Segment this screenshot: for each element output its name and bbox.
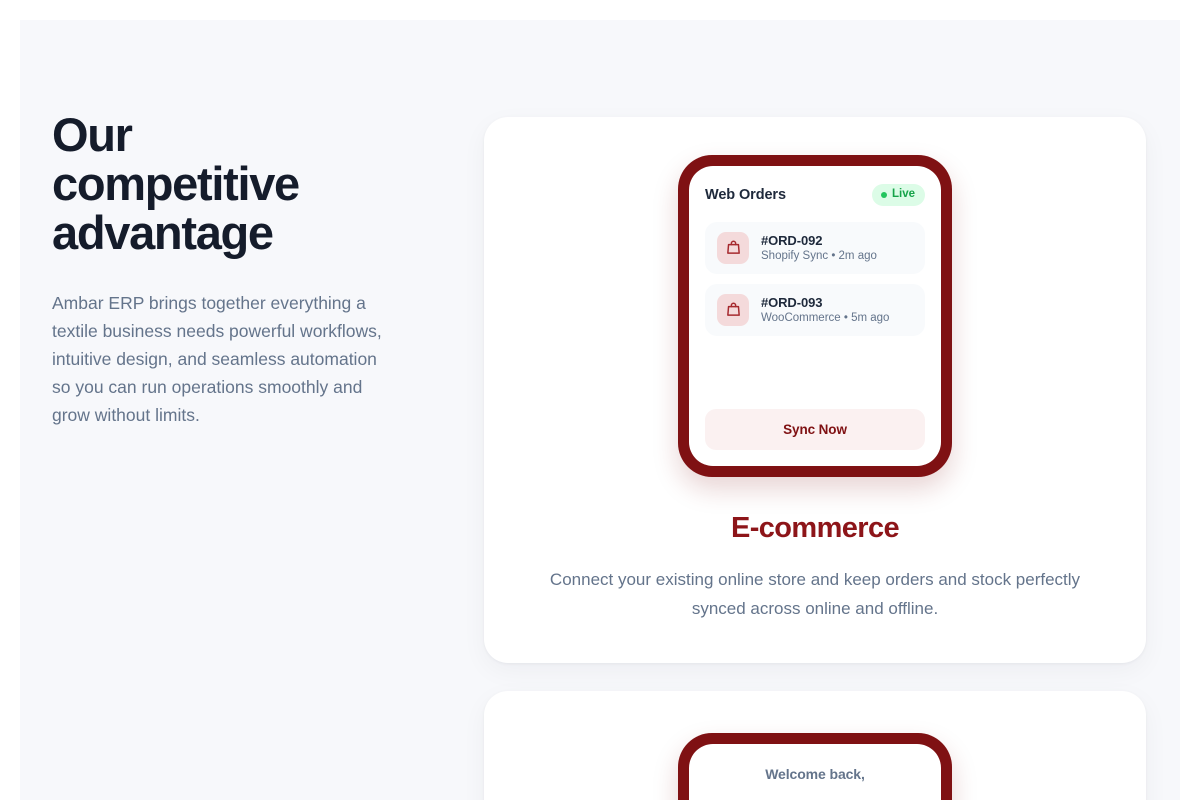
mock-header: Web Orders Live — [705, 184, 925, 206]
order-text-group: #ORD-093 WooCommerce • 5m ago — [761, 295, 889, 324]
device-mockup-frame: Welcome back, — [678, 733, 952, 800]
welcome-message: Welcome back, — [705, 766, 925, 782]
feature-card-body: Welcome back, — [484, 691, 1146, 800]
order-meta: Shopify Sync • 2m ago — [761, 250, 877, 262]
order-id: #ORD-092 — [761, 233, 877, 248]
feature-card-body: Web Orders Live — [484, 117, 1146, 663]
order-id: #ORD-093 — [761, 295, 889, 310]
feature-caption: E-commerce Connect your existing online … — [528, 477, 1102, 623]
status-badge: Live — [872, 184, 925, 206]
order-text-group: #ORD-092 Shopify Sync • 2m ago — [761, 233, 877, 262]
status-badge-label: Live — [892, 189, 915, 201]
feature-card-dashboard[interactable]: Welcome back, — [484, 691, 1146, 800]
page-surface: Our competitive advantage Ambar ERP brin… — [20, 20, 1180, 800]
list-item[interactable]: #ORD-092 Shopify Sync • 2m ago — [705, 222, 925, 274]
shopping-bag-icon — [717, 232, 749, 264]
device-mockup-frame: Web Orders Live — [678, 155, 952, 477]
order-list: #ORD-092 Shopify Sync • 2m ago — [705, 222, 925, 336]
feature-card-ecommerce[interactable]: Web Orders Live — [484, 117, 1146, 663]
device-screen: Web Orders Live — [689, 166, 941, 466]
mock-header-title: Web Orders — [705, 187, 786, 203]
status-dot-icon — [881, 192, 887, 198]
intro-paragraph: Ambar ERP brings together everything a t… — [52, 257, 397, 429]
list-item[interactable]: #ORD-093 WooCommerce • 5m ago — [705, 284, 925, 336]
competitive-advantage-section: Our competitive advantage Ambar ERP brin… — [20, 20, 1180, 800]
shopping-bag-icon — [717, 294, 749, 326]
feature-title: E-commerce — [528, 511, 1102, 546]
order-meta: WooCommerce • 5m ago — [761, 312, 889, 324]
intro-column: Our competitive advantage Ambar ERP brin… — [52, 110, 412, 429]
device-screen: Welcome back, — [689, 744, 941, 800]
page-title: Our competitive advantage — [52, 110, 382, 257]
sync-now-button[interactable]: Sync Now — [705, 409, 925, 450]
feature-card-column: Web Orders Live — [484, 117, 1146, 800]
mock-spacer — [705, 336, 925, 410]
feature-description: Connect your existing online store and k… — [528, 546, 1102, 623]
